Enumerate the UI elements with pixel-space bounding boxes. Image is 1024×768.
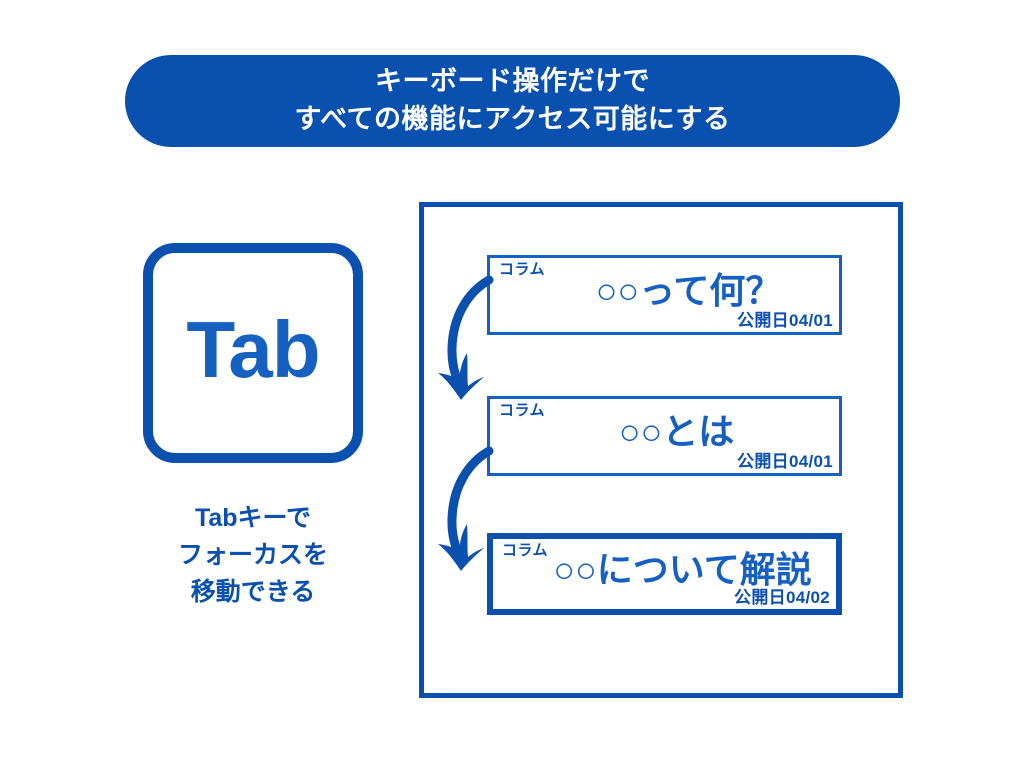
tab-caption-line-3: 移動できる — [133, 574, 373, 611]
article-publish-date: 公開日04/01 — [737, 453, 833, 470]
title-line-1: キーボード操作だけで — [375, 62, 650, 100]
article-card-2[interactable]: コラム ○○とは 公開日04/01 — [487, 396, 842, 476]
tab-key-graphic: Tab — [143, 243, 363, 463]
article-title: ○○について解説 — [493, 551, 830, 589]
tab-caption-line-1: Tabキーで — [133, 500, 373, 537]
tab-caption-line-2: フォーカスを — [133, 537, 373, 574]
title-line-2: すべての機能にアクセス可能にする — [295, 100, 731, 138]
title-banner: キーボード操作だけで すべての機能にアクセス可能にする — [125, 55, 900, 147]
article-card-3-focused[interactable]: コラム ○○について解説 公開日04/02 — [487, 533, 842, 615]
article-publish-date: 公開日04/01 — [737, 312, 833, 329]
focus-move-arrow-1-icon — [432, 272, 512, 417]
article-title: ○○とは — [490, 413, 833, 451]
article-publish-date: 公開日04/02 — [734, 589, 830, 606]
tab-key-caption: Tabキーで フォーカスを 移動できる — [133, 500, 373, 611]
focus-move-arrow-2-icon — [432, 443, 512, 588]
article-card-1[interactable]: コラム ○○って何？ 公開日04/01 — [487, 255, 842, 335]
article-title: ○○って何？ — [490, 272, 833, 310]
tab-key-label: Tab — [186, 310, 319, 396]
